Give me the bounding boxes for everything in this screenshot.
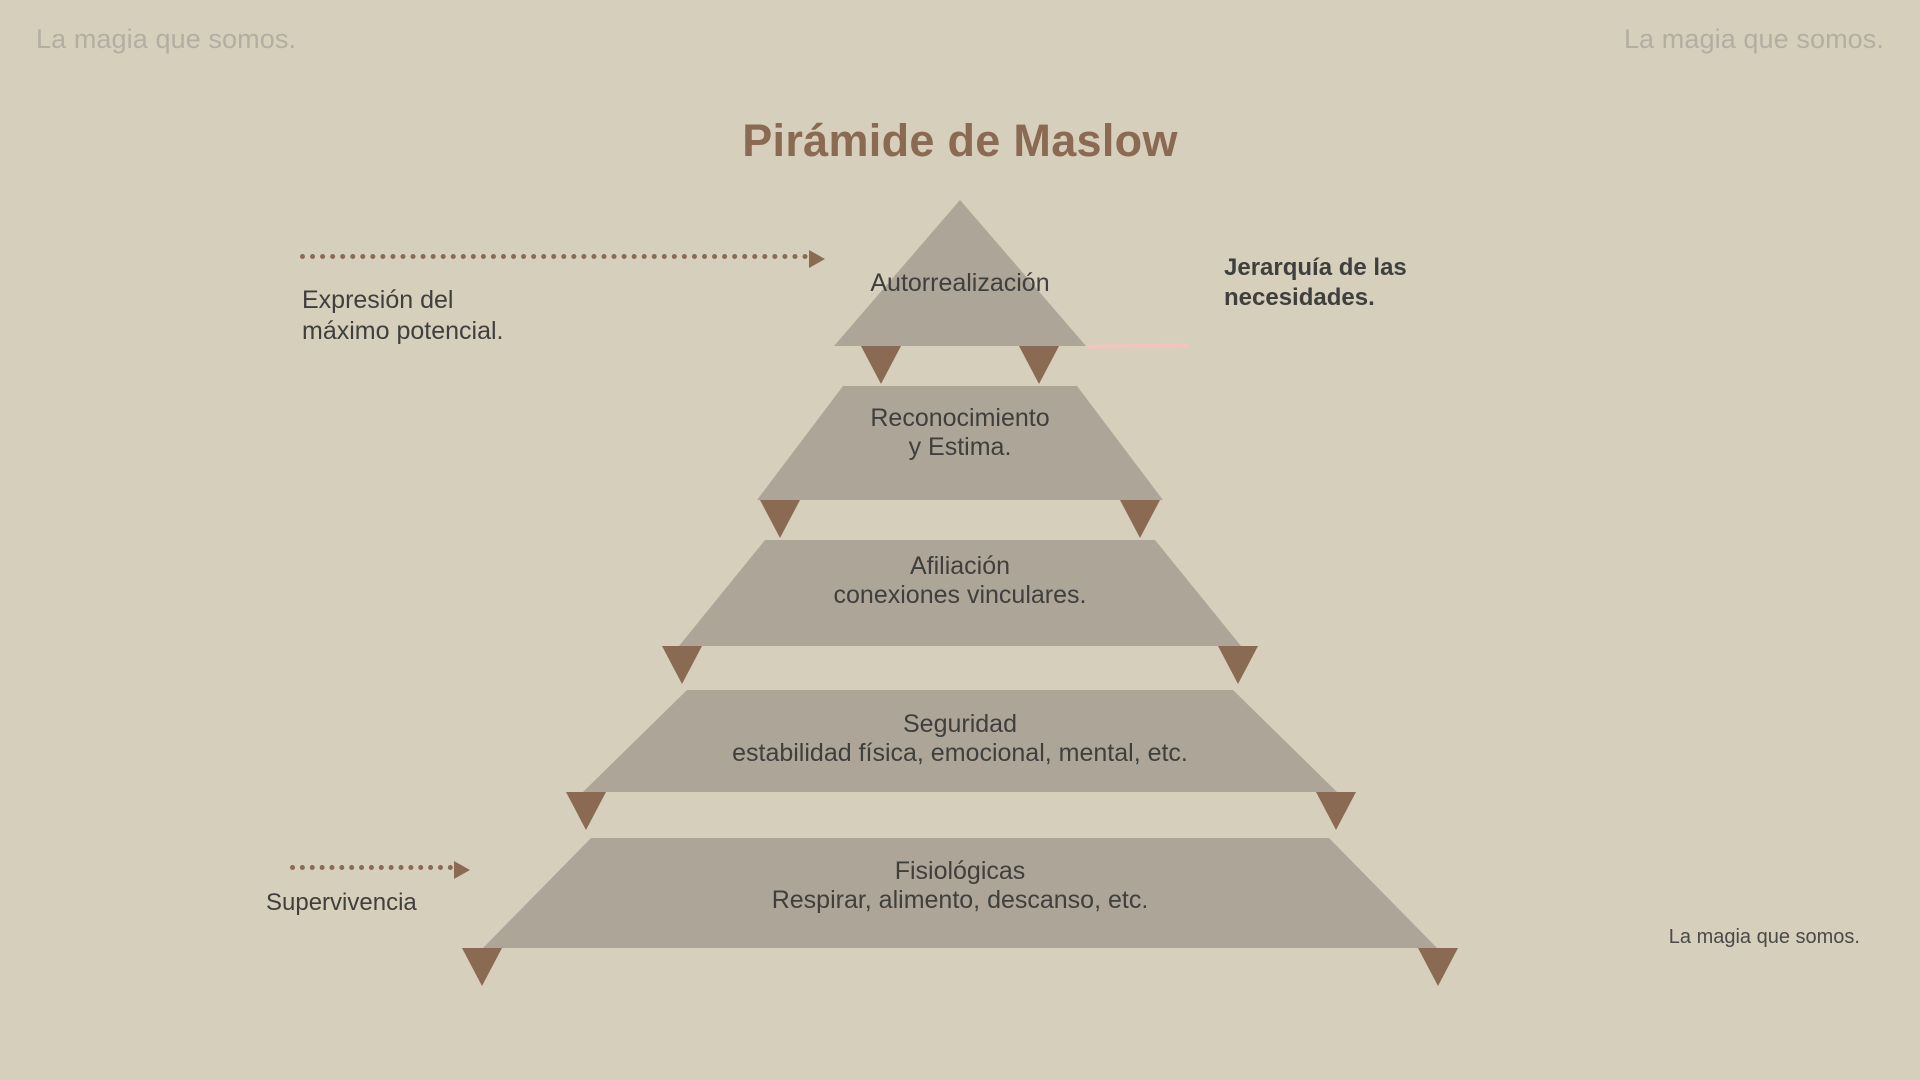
maslow-pyramid: Autorrealización Reconocimiento y Estima… bbox=[0, 0, 1920, 1080]
tier-label-afiliacion: Afiliación conexiones vinculares. bbox=[0, 552, 1920, 610]
dotted-arrow-bottom bbox=[290, 861, 470, 873]
notch-icon-tier1-right bbox=[1418, 948, 1458, 986]
tier-label-reconocimiento: Reconocimiento y Estima. bbox=[0, 404, 1920, 462]
arrow-head-icon-top bbox=[809, 250, 825, 268]
dotted-line-bottom bbox=[290, 865, 453, 870]
watermark-bottom-right: La magia que somos. bbox=[1669, 926, 1860, 949]
arrow-head-icon-bottom bbox=[454, 861, 470, 879]
tier-label-autorrealizacion: Autorrealización bbox=[0, 269, 1920, 298]
notch-icon-tier4-right bbox=[1120, 500, 1160, 538]
annotation-supervivencia: Supervivencia bbox=[266, 888, 417, 917]
annotation-expresion-maximo-potencial: Expresión del máximo potencial. bbox=[302, 285, 503, 346]
tier-shape-afiliacion bbox=[679, 540, 1241, 646]
notch-icon-tier2-right bbox=[1316, 792, 1356, 830]
notch-icon-tier3-left bbox=[662, 646, 702, 684]
tier-label-seguridad: Seguridad estabilidad física, emocional,… bbox=[0, 710, 1920, 768]
notch-icon-tier4-left bbox=[760, 500, 800, 538]
notch-icon-apex-left bbox=[861, 346, 901, 384]
notch-icon-apex-right bbox=[1019, 346, 1059, 384]
notch-icon-tier3-right bbox=[1218, 646, 1258, 684]
slide-canvas: La magia que somos. La magia que somos. … bbox=[0, 0, 1920, 1080]
tier-shape-seguridad bbox=[583, 690, 1337, 792]
tier-shape-reconocimiento bbox=[757, 386, 1163, 500]
tier-shape-fisiologicas bbox=[483, 838, 1437, 948]
notch-icon-tier2-left bbox=[566, 792, 606, 830]
notch-icon-tier1-left bbox=[462, 948, 502, 986]
dotted-arrow-top bbox=[300, 250, 825, 262]
tier-shape-autorrealizacion bbox=[834, 200, 1086, 346]
dotted-line-top bbox=[300, 254, 808, 259]
pyramid-shapes bbox=[0, 0, 1920, 1080]
annotation-jerarquia-necesidades: Jerarquía de las necesidades. bbox=[1224, 253, 1407, 313]
